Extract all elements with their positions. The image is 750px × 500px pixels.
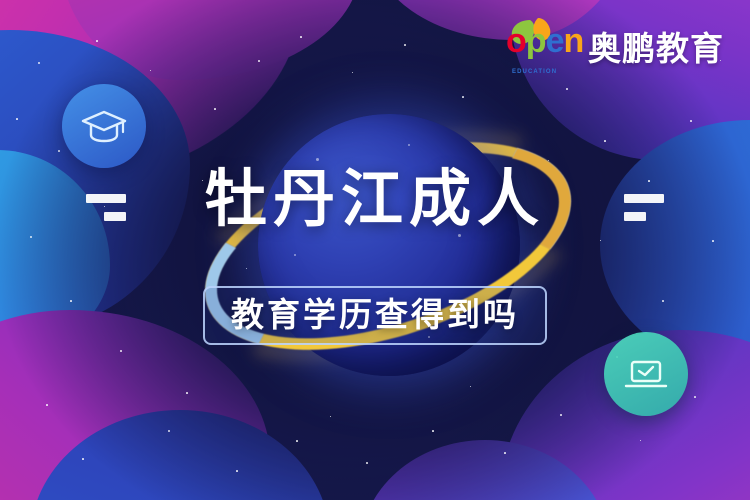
promo-banner: open EDUCATION 奥鹏教育 牡丹江成人 教育学历查得到吗 <box>0 0 750 500</box>
subtitle-row: 教育学历查得到吗 <box>0 286 750 345</box>
star <box>214 108 216 110</box>
logo-brand-name: 奥鹏教育 <box>588 22 724 70</box>
star <box>186 392 188 394</box>
star <box>30 236 32 238</box>
star <box>300 36 302 38</box>
star <box>432 430 434 432</box>
decor-dashes-right <box>624 194 664 221</box>
star <box>82 458 84 460</box>
logo-letter-n: n <box>563 22 583 60</box>
star <box>566 88 568 90</box>
logo-letter-e: e <box>546 22 564 60</box>
star <box>16 118 18 120</box>
planet-icon <box>236 96 536 396</box>
star <box>58 150 60 152</box>
star <box>694 396 696 398</box>
star <box>366 462 368 464</box>
dash-long <box>624 194 664 203</box>
logo-tagline: EDUCATION <box>512 69 557 75</box>
page-title: 牡丹江成人 <box>205 168 545 230</box>
star <box>560 414 562 416</box>
star <box>404 44 406 46</box>
star <box>120 350 122 352</box>
brand-logo[interactable]: open EDUCATION 奥鹏教育 <box>506 16 724 76</box>
page-subtitle: 教育学历查得到吗 <box>203 286 547 345</box>
star <box>46 404 48 406</box>
star <box>236 470 238 472</box>
logo-letter-o: o <box>506 22 526 60</box>
star <box>712 240 714 242</box>
logo-letter-p: p <box>526 22 546 60</box>
decor-dashes-left <box>86 194 126 221</box>
star <box>604 140 606 142</box>
graduation-cap-icon <box>62 84 146 168</box>
dash-short <box>624 212 646 221</box>
star <box>38 62 40 64</box>
star <box>690 120 692 122</box>
logo-wordmark: open <box>506 24 583 58</box>
headline-row: 牡丹江成人 <box>0 168 750 230</box>
star <box>258 60 260 62</box>
dash-long <box>86 194 126 203</box>
dash-short <box>104 212 126 221</box>
star <box>504 452 506 454</box>
logo-mark: open EDUCATION <box>506 16 580 76</box>
star <box>96 40 98 42</box>
star <box>296 440 298 442</box>
star <box>168 430 170 432</box>
